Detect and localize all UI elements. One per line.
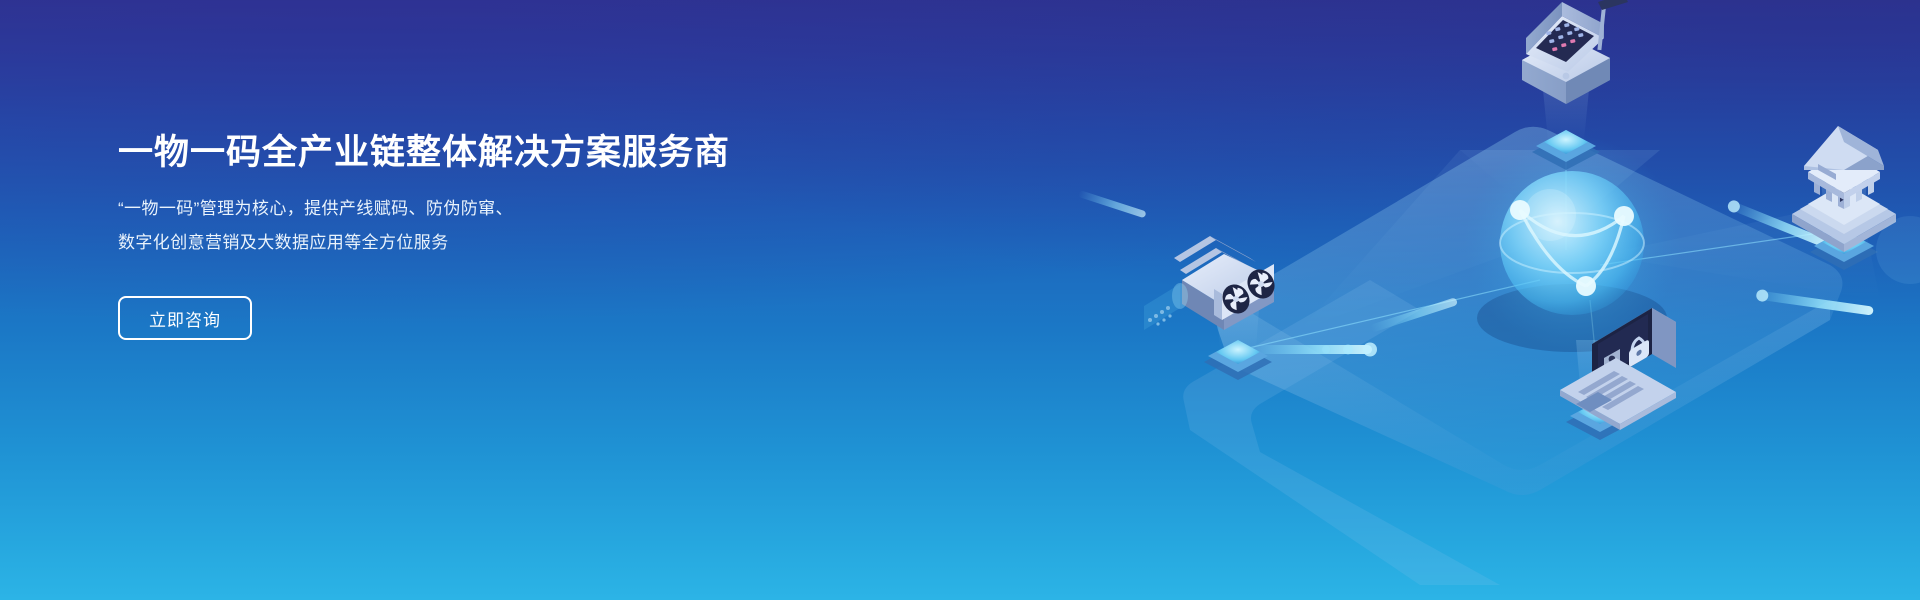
page-title: 一物一码全产业链整体解决方案服务商 — [118, 132, 838, 174]
pos-terminal-icon — [1522, 0, 1628, 104]
hero-illustration — [900, 0, 1920, 600]
hero-banner: 一物一码全产业链整体解决方案服务商 “一物一码”管理为核心，提供产线赋码、防伪防… — [0, 0, 1920, 600]
consult-now-button[interactable]: 立即咨询 — [118, 296, 252, 340]
hero-subtitle-line-1: “一物一码”管理为核心，提供产线赋码、防伪防窜、 — [118, 192, 838, 226]
hero-copy: 一物一码全产业链整体解决方案服务商 “一物一码”管理为核心，提供产线赋码、防伪防… — [118, 132, 838, 340]
hero-subtitle: “一物一码”管理为核心，提供产线赋码、防伪防窜、 数字化创意营销及大数据应用等全… — [118, 192, 838, 260]
airflow-cone — [1144, 283, 1188, 330]
hero-subtitle-line-2: 数字化创意营销及大数据应用等全方位服务 — [118, 226, 838, 260]
